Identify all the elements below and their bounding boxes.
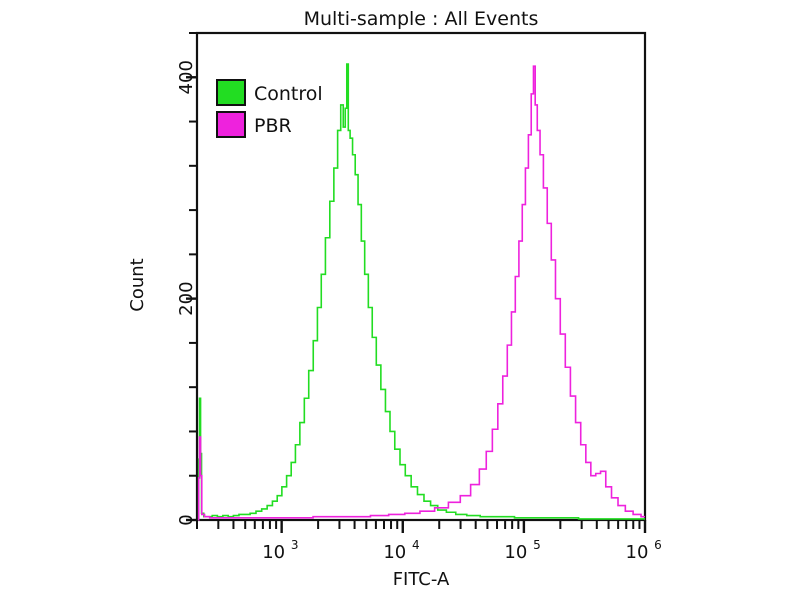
svg-text:4: 4 xyxy=(412,538,420,552)
x-axis-label: FITC-A xyxy=(393,569,450,590)
legend-label-pbr: PBR xyxy=(254,115,292,137)
legend-label-control: Control xyxy=(254,83,323,105)
svg-text:6: 6 xyxy=(654,538,662,552)
pbr-swatch xyxy=(217,112,245,137)
y-tick-label: 0 xyxy=(176,514,197,525)
svg-text:3: 3 xyxy=(291,538,299,552)
page-title: Multi-sample : All Events xyxy=(304,8,539,30)
y-axis-label: Count xyxy=(127,258,148,311)
y-tick-label: 200 xyxy=(176,281,197,315)
svg-text:10: 10 xyxy=(262,542,285,563)
svg-text:10: 10 xyxy=(504,542,527,563)
figure-background xyxy=(0,0,800,600)
svg-text:10: 10 xyxy=(383,542,406,563)
y-tick-label: 400 xyxy=(176,60,197,94)
svg-text:10: 10 xyxy=(626,542,649,563)
flow-cytometry-histogram: Multi-sample : All Events 0200400 103104… xyxy=(0,0,800,600)
svg-text:5: 5 xyxy=(533,538,541,552)
control-swatch xyxy=(217,80,245,105)
